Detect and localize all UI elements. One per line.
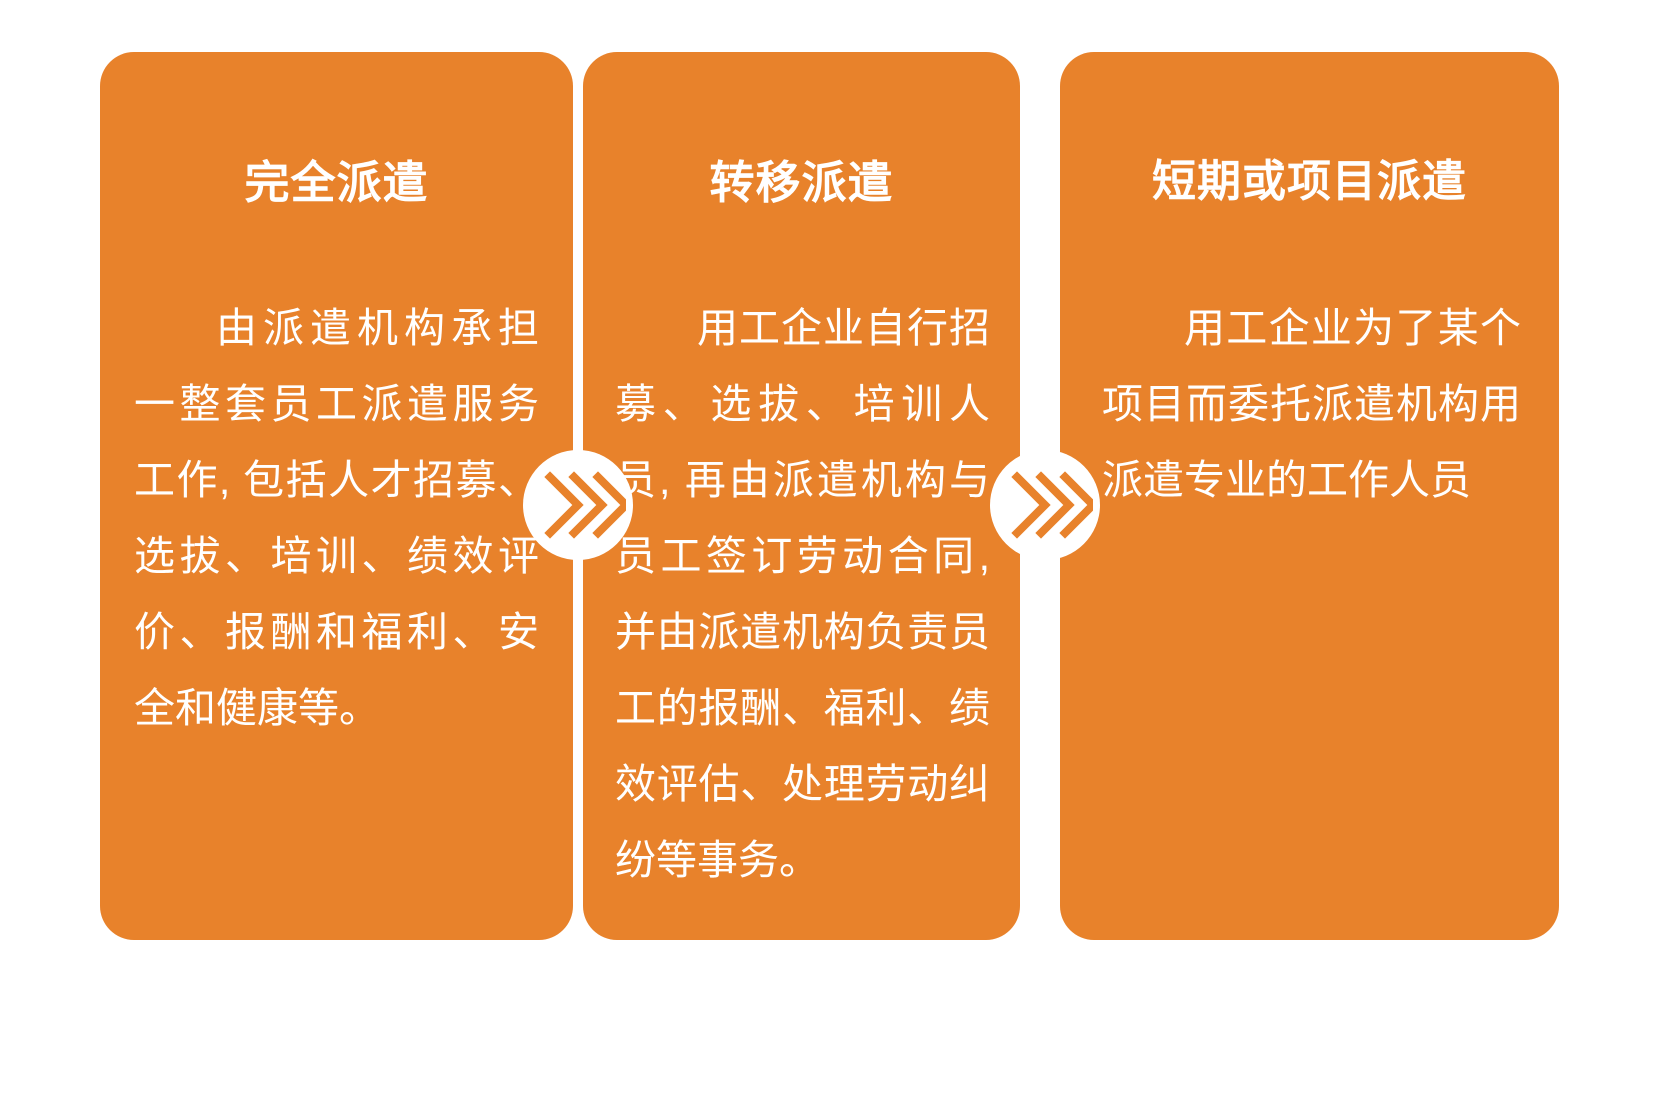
double-chevron-right-icon xyxy=(990,450,1100,560)
card-body-text: 用工企业为了某个项目而委托派遣机构用派遣专业的工作人员 xyxy=(1060,290,1559,518)
dispatch-card-transfer[interactable]: 转移派遣 用工企业自行招募、选拔、培训人员, 再由派遣机构与员工签订劳动合同, … xyxy=(583,52,1020,940)
dispatch-card-full[interactable]: 完全派遣 由派遣机构承担一整套员工派遣服务工作, 包括人才招募、选拔、培训、绩效… xyxy=(100,52,573,940)
double-chevron-right-icon xyxy=(523,450,633,560)
card-title: 短期或项目派遣 xyxy=(1060,156,1559,209)
card-title: 转移派遣 xyxy=(583,156,1020,210)
card-body-text: 由派遣机构承担一整套员工派遣服务工作, 包括人才招募、选拔、培训、绩效评价、报酬… xyxy=(100,290,573,746)
dispatch-card-short-term[interactable]: 短期或项目派遣 用工企业为了某个项目而委托派遣机构用派遣专业的工作人员 xyxy=(1060,52,1559,940)
card-body-text: 用工企业自行招募、选拔、培训人员, 再由派遣机构与员工签订劳动合同, 并由派遣机… xyxy=(583,290,1020,898)
infographic-canvas: 完全派遣 由派遣机构承担一整套员工派遣服务工作, 包括人才招募、选拔、培训、绩效… xyxy=(0,0,1658,1098)
card-title: 完全派遣 xyxy=(100,156,573,210)
